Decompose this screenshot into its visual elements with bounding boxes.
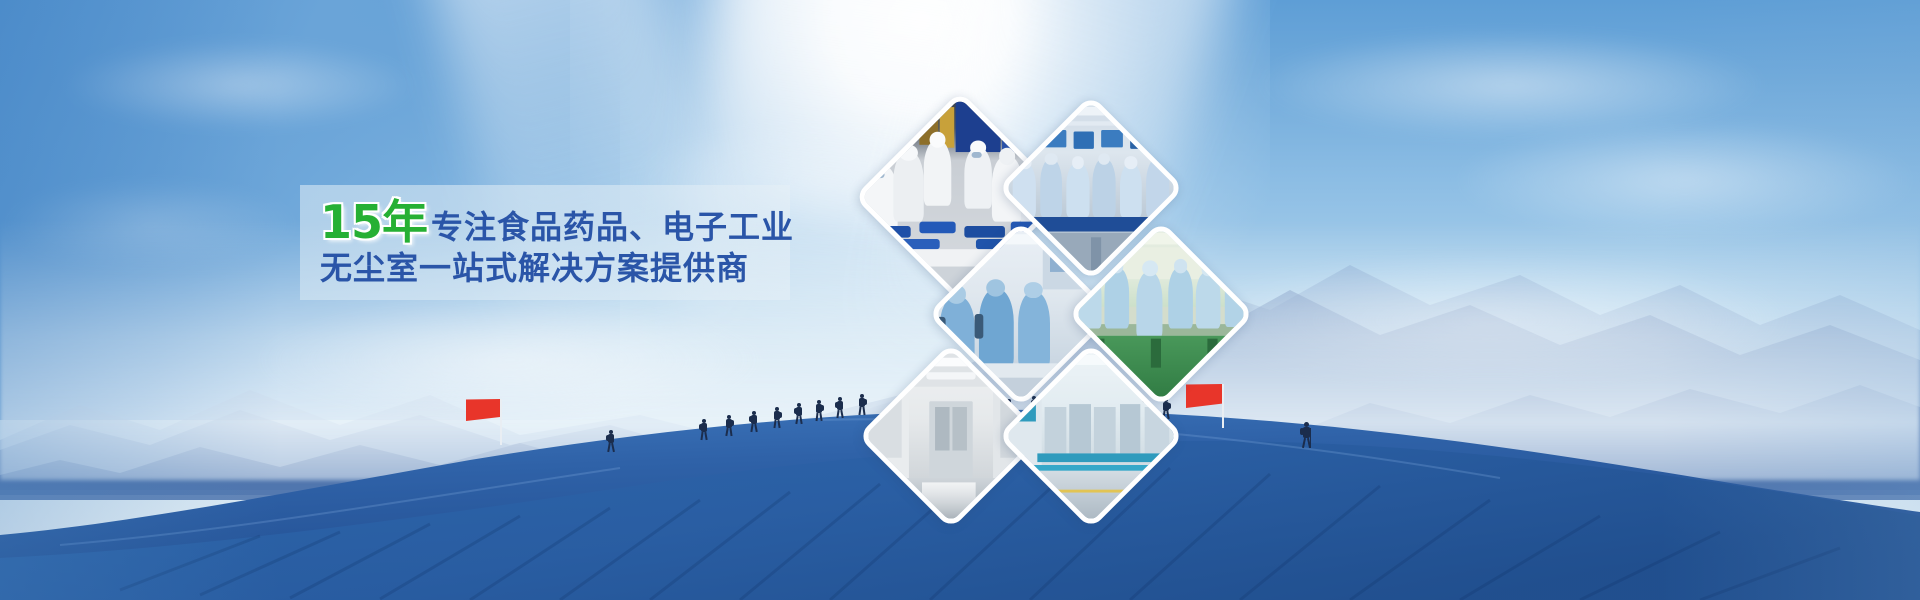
headline-panel: 15年 专注食品药品、电子工业 无尘室一站式解决方案提供商 bbox=[300, 185, 790, 300]
headline-line-1-text: 专注食品药品、电子工业 bbox=[431, 211, 794, 243]
headline-line-2: 无尘室一站式解决方案提供商 bbox=[320, 251, 790, 286]
cleanroom-photo-gallery bbox=[840, 80, 1280, 480]
headline-line-1: 15年 专注食品药品、电子工业 bbox=[320, 199, 790, 245]
hero-banner: 15年 专注食品药品、电子工业 无尘室一站式解决方案提供商 bbox=[0, 0, 1920, 600]
cloud-wisp bbox=[60, 40, 420, 130]
years-badge: 15年 bbox=[320, 199, 427, 245]
